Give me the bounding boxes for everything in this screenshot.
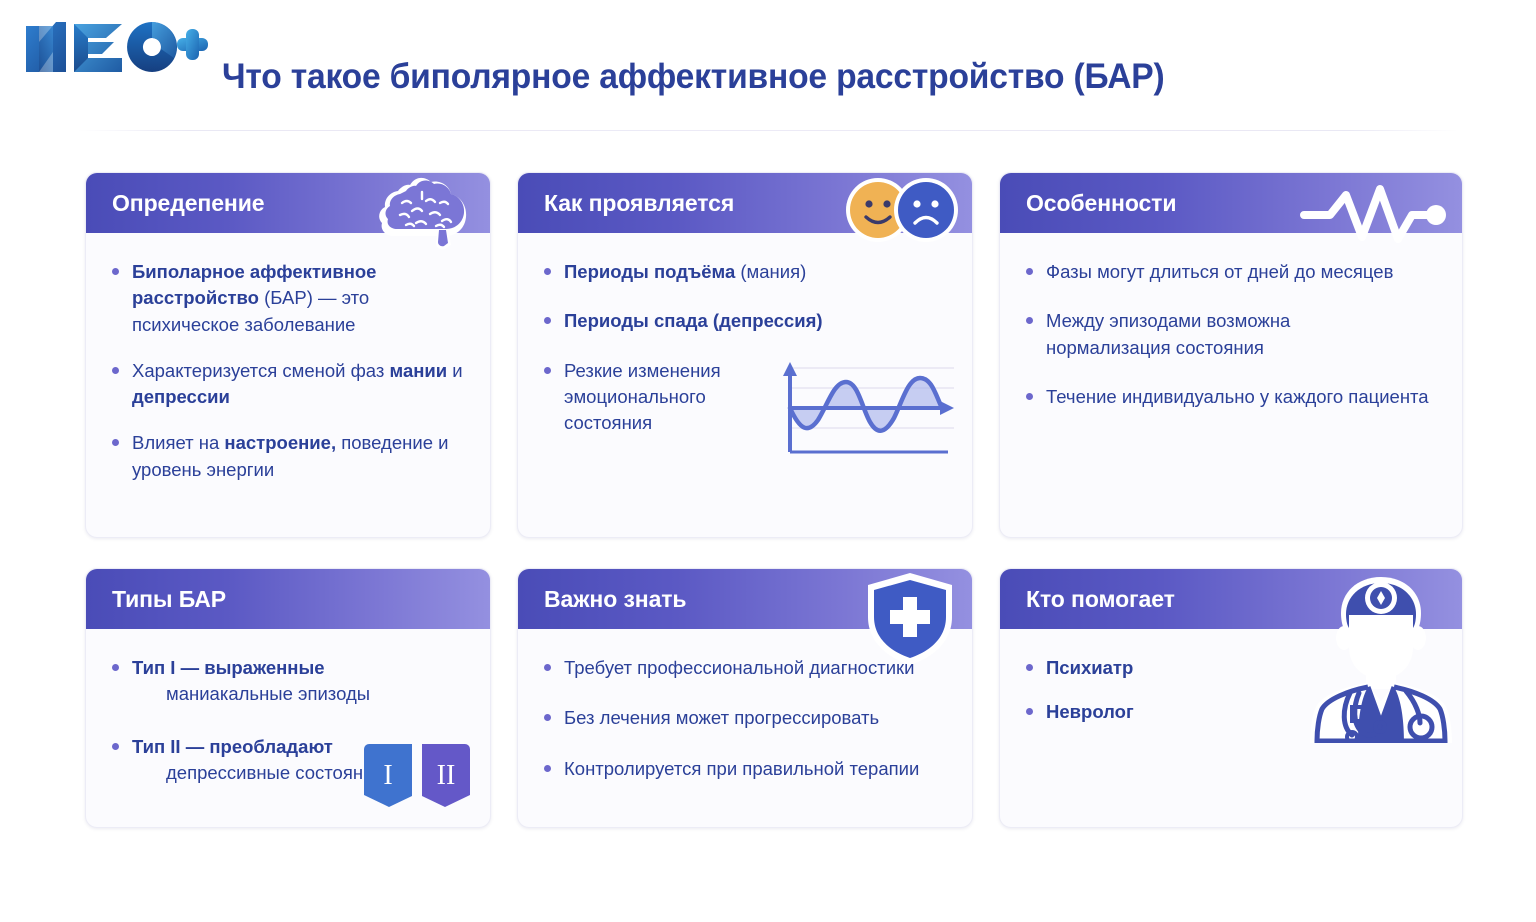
list-item: Периоды спада (депрессия) [542, 308, 950, 334]
list-item: Резкие изменения эмоционального состояни… [542, 358, 797, 437]
card-header-features: Особенности [1000, 173, 1462, 233]
bullet-text: и [447, 360, 462, 381]
bullet-text: Влияет на [132, 432, 224, 453]
card-header-types: Типы БАР [86, 569, 490, 629]
list-item: Характеризуется сменой фаз мании и депре… [110, 358, 468, 411]
card-title: Особенности [1026, 190, 1176, 217]
bullet-list: Биполарное аффективное расстройство (БАР… [110, 259, 468, 483]
bullet-text: Характеризуется сменой фаз [132, 360, 390, 381]
bullet-list: Фазы могут длиться от дней до месяцев Ме… [1024, 259, 1440, 410]
card-definition[interactable]: Опредепение [85, 172, 491, 538]
list-item: Биполарное аффективное расстройство (БАР… [110, 259, 468, 338]
card-important[interactable]: Важно знать Требует профессиональной диа… [517, 568, 973, 828]
bullet-list: Требует профессиональной диагностики Без… [542, 655, 950, 782]
card-body-manifestation: Периоды подъёма (мания) Периоды спада (д… [518, 233, 972, 475]
list-item: Течение индивидуально у каждого пациента [1024, 384, 1440, 410]
card-body-definition: Биполарное аффективное расстройство (БАР… [86, 233, 490, 499]
list-item: Без лечения может прогрессировать [542, 705, 950, 731]
card-title: Как проявляется [544, 190, 734, 217]
bullet-bold-text: Периоды спада (депрессия) [564, 310, 823, 331]
card-body-types: Тип I — выраженные маниакальные эпизоды … [86, 629, 490, 802]
card-body-who-helps: Психиатр Невролог [1000, 629, 1462, 756]
bullet-bold-text: Психиатр [1046, 657, 1133, 678]
list-item: Контролируется при правильной терапии [542, 756, 950, 782]
list-item: Влияет на настроение, поведение и уровен… [110, 430, 468, 483]
list-item: Фазы могут длиться от дней до месяцев [1024, 259, 1440, 285]
bullet-list: Психиатр Невролог [1024, 655, 1440, 726]
card-who-helps[interactable]: Кто помогает [999, 568, 1463, 828]
card-header-manifestation: Как проявляется [518, 173, 972, 233]
list-item: Тип II — преобладают депрессивные состоя… [110, 734, 468, 787]
card-title: Важно знать [544, 586, 686, 613]
bullet-subtext: депрессивные состояния [132, 760, 468, 786]
bullet-subtext: маниакальные эпизоды [132, 681, 468, 707]
card-title: Кто помогает [1026, 586, 1175, 613]
list-item: Требует профессиональной диагностики [542, 655, 950, 681]
list-item: Невролог [1024, 699, 1440, 725]
bullet-bold-text: Периоды подъёма [564, 261, 735, 282]
bullet-bold-text: Тип II — преобладают [132, 736, 333, 757]
cards-grid: Опредепение [85, 172, 1455, 828]
page-title: Что такое биполярное аффективное расстро… [222, 57, 1164, 97]
card-body-important: Требует профессиональной диагностики Без… [518, 629, 972, 812]
list-item: Тип I — выраженные маниакальные эпизоды [110, 655, 468, 708]
list-item: Периоды подъёма (мания) [542, 259, 950, 285]
card-header-important: Важно знать [518, 569, 972, 629]
bullet-text: (мания) [735, 261, 806, 282]
card-features[interactable]: Особенности Фазы могут длиться от дней д… [999, 172, 1463, 538]
bullet-list: Периоды подъёма (мания) Периоды спада (д… [542, 259, 950, 436]
card-title: Опредепение [112, 190, 264, 217]
neo-plus-logo [18, 16, 208, 78]
card-header-who-helps: Кто помогает [1000, 569, 1462, 629]
card-types[interactable]: Типы БАР Тип I — выраженные маниакальные… [85, 568, 491, 828]
bullet-list: Тип I — выраженные маниакальные эпизоды … [110, 655, 468, 786]
bullet-bold-text: Тип I — выраженные [132, 657, 325, 678]
bullet-bold-text: настроение, [224, 432, 336, 453]
card-body-features: Фазы могут длиться от дней до месяцев Ме… [1000, 233, 1462, 449]
bullet-bold-text: мании [390, 360, 448, 381]
page-header: Что такое биполярное аффективное расстро… [0, 0, 1536, 130]
card-header-definition: Опредепение [86, 173, 490, 233]
list-item: Между эпизодами возможна нормализация со… [1024, 308, 1324, 361]
header-divider [78, 130, 1458, 131]
bullet-bold-text: Невролог [1046, 701, 1134, 722]
bullet-bold-text: депрессии [132, 386, 230, 407]
list-item: Психиатр [1024, 655, 1440, 681]
card-title: Типы БАР [112, 586, 226, 613]
card-manifestation[interactable]: Как проявляется Периоды подъёма ( [517, 172, 973, 538]
bullet-text: Резкие изменения эмоционального состояни… [564, 360, 721, 434]
